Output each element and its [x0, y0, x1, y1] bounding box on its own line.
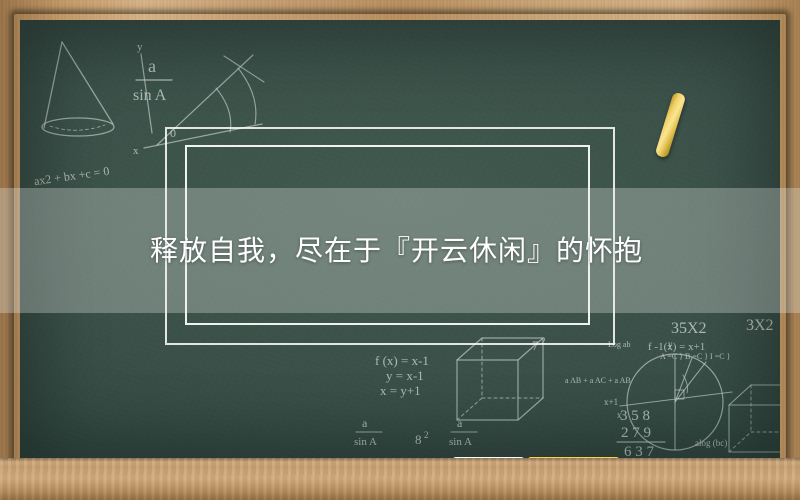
headline-text: 释放自我，尽在于『开云休闲』的怀抱: [150, 234, 643, 268]
headline-band: 释放自我，尽在于『开云休闲』的怀抱: [0, 188, 800, 313]
tray-lip: [0, 458, 800, 462]
chalk-tray: [0, 458, 800, 500]
banner-image: a sin A y x 0 ax2 +: [0, 0, 800, 500]
